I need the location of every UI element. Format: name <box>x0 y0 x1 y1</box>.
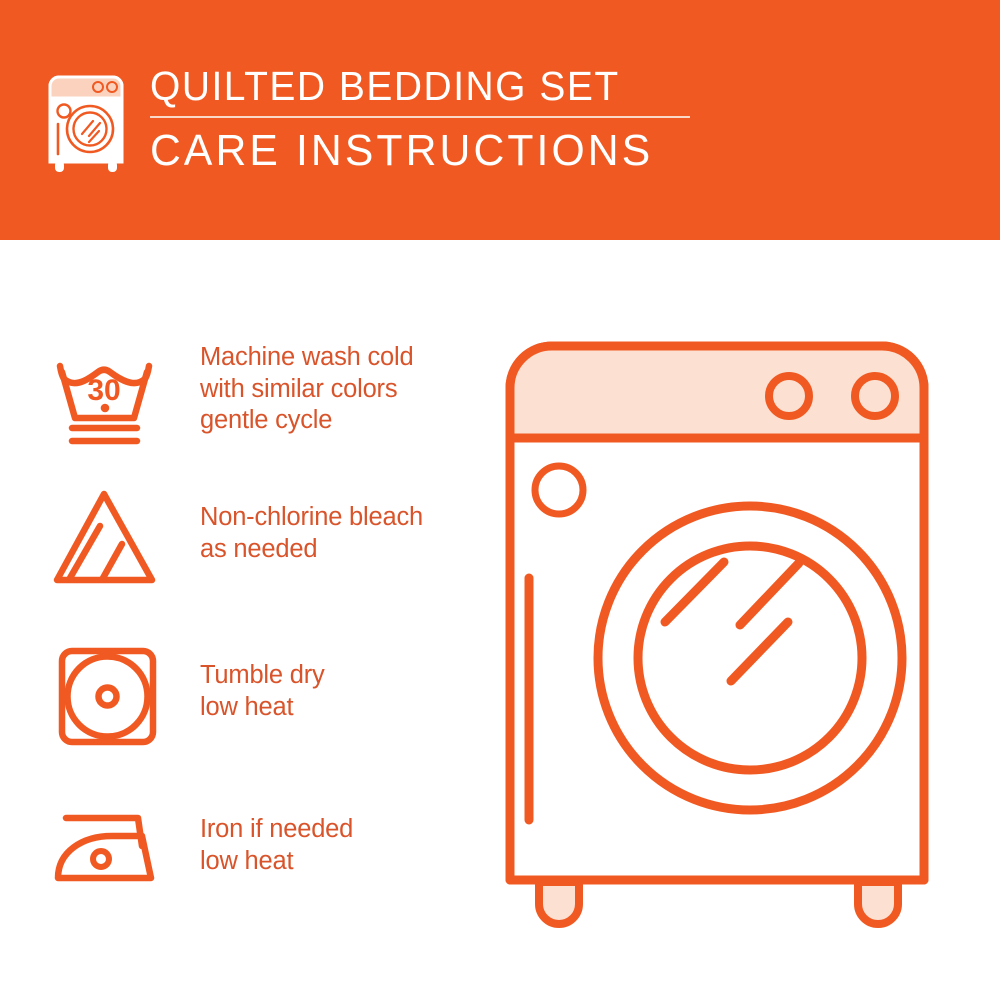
iron-low-heat-icon <box>46 792 166 910</box>
wash-temperature-value: 30 <box>87 374 120 407</box>
header-content: QUILTED BEDDING SET CARE INSTRUCTIONS <box>44 62 690 176</box>
title-divider <box>150 116 690 118</box>
detergent-indicator-circle[interactable] <box>535 466 583 514</box>
header-text-block: QUILTED BEDDING SET CARE INSTRUCTIONS <box>150 62 690 176</box>
care-item-machine-wash: 30 Machine wash cold with similar colors… <box>46 338 413 456</box>
care-text-line: as needed <box>200 534 423 566</box>
care-text-line: low heat <box>200 692 325 724</box>
care-text-line: low heat <box>200 846 353 878</box>
tumble-dry-low-heat-icon <box>46 638 166 756</box>
care-item-text: Non-chlorine bleach as needed <box>200 480 423 565</box>
non-chlorine-bleach-triangle-icon <box>46 480 166 598</box>
care-item-tumble-dry: Tumble dry low heat <box>46 638 325 756</box>
wash-tub-30-gentle-icon: 30 <box>46 338 166 456</box>
knob-dial-left[interactable] <box>769 376 809 416</box>
machine-foot-left <box>539 882 579 924</box>
page-title: QUILTED BEDDING SET <box>150 62 663 110</box>
care-text-line: Non-chlorine bleach <box>200 502 423 534</box>
machine-foot-right <box>858 882 898 924</box>
care-text-line: Tumble dry <box>200 660 325 692</box>
care-item-text: Iron if needed low heat <box>200 792 353 877</box>
care-text-line: gentle cycle <box>200 405 413 437</box>
header-banner: QUILTED BEDDING SET CARE INSTRUCTIONS <box>0 0 1000 240</box>
wash-dot <box>101 404 110 413</box>
front-load-washing-machine-illustration <box>492 330 982 930</box>
care-text-line: with similar colors <box>200 374 413 406</box>
care-text-line: Machine wash cold <box>200 342 413 374</box>
care-item-text: Tumble dry low heat <box>200 638 325 723</box>
care-item-text: Machine wash cold with similar colors ge… <box>200 338 413 437</box>
care-instructions-infographic: QUILTED BEDDING SET CARE INSTRUCTIONS 30 <box>0 0 1000 1000</box>
washing-machine-icon <box>44 66 128 176</box>
knob-dial-right[interactable] <box>855 376 895 416</box>
care-item-iron: Iron if needed low heat <box>46 792 353 910</box>
care-item-bleach: Non-chlorine bleach as needed <box>46 480 423 598</box>
care-text-line: Iron if needed <box>200 814 353 846</box>
page-subtitle: CARE INSTRUCTIONS <box>150 126 674 176</box>
